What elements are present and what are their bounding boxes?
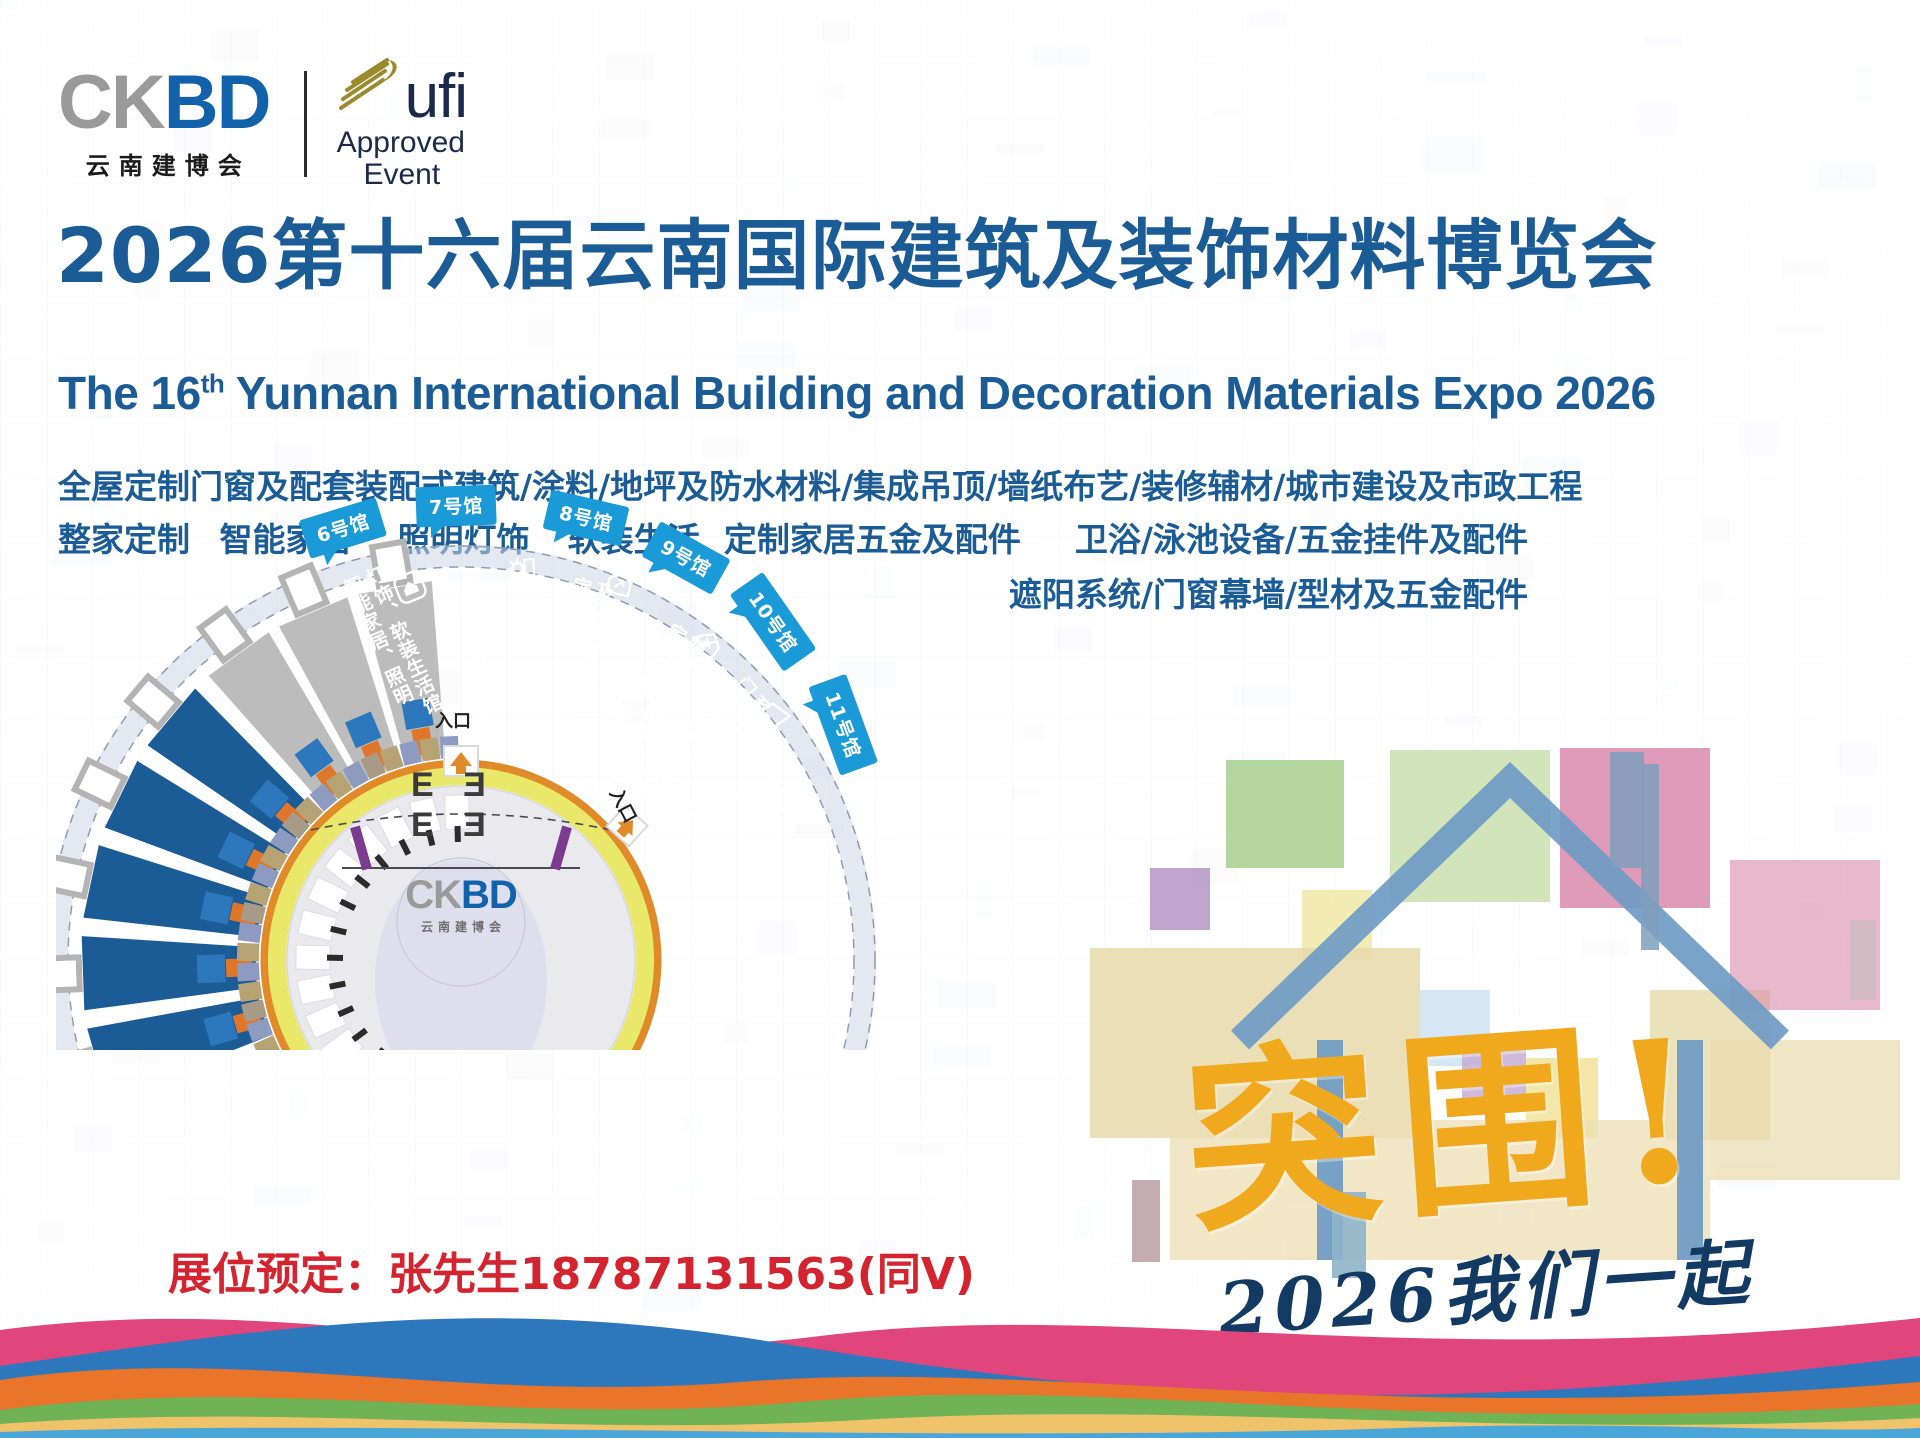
category-item: 遮阳系统/门窗幕墙/型材及五金配件	[1009, 578, 1528, 611]
title-chinese: 2026第十六届云南国际建筑及装饰材料博览会	[56, 218, 1536, 294]
floorplan-hall-facade	[56, 857, 91, 897]
ufi-approved-label: Approved	[337, 127, 467, 159]
title-english-ordinal: th	[201, 369, 225, 399]
category-row-1: 全屋定制 门窗及配套 装配式建筑/涂料/地坪及防水材料/集成吊顶/墙纸布艺/装修…	[58, 470, 1528, 503]
aisle-marker-top: Ε Ǝ	[411, 768, 496, 804]
ufi-top-row: ufi	[337, 58, 467, 125]
logo-divider	[304, 71, 307, 177]
ckbd-subtitle: 云南建博会	[77, 146, 251, 181]
category-item: 卫浴/泳池设备/五金挂件及配件	[1075, 523, 1528, 556]
floorplan-connector	[200, 891, 233, 924]
ufi-logo: ufi Approved Event	[337, 58, 467, 190]
ckbd-wordmark-gray: CK	[58, 60, 164, 145]
center-logo-wordmark: CKBD	[386, 875, 536, 915]
lighting-icon	[505, 553, 537, 590]
ckbd-logo: CKBD 云南建博会	[58, 67, 270, 180]
floorplan-service-block	[237, 943, 260, 962]
ufi-wordmark: ufi	[405, 69, 467, 125]
ufi-swoosh-icon	[337, 58, 409, 121]
ufi-event-label: Event	[337, 159, 467, 191]
floorplan-service-block	[237, 962, 260, 981]
title-english-rest: Yunnan International Building and Decora…	[224, 367, 1655, 419]
aisle-marker-bottom: Ε Ǝ	[411, 808, 496, 844]
category-item: 全屋定制	[58, 470, 190, 503]
floorplan-service-block	[238, 981, 262, 1002]
category-item: 装配式建筑/涂料/地坪及防水材料/集成吊顶/墙纸布艺/装修辅材/城市建设及市政工…	[355, 470, 1582, 503]
floorplan-hall-facade	[56, 957, 80, 990]
floorplan-service-block	[238, 922, 262, 943]
calligraphy-headline: 突围!	[1179, 1012, 1723, 1245]
center-logo-blue: BD	[461, 873, 517, 917]
poster-canvas: CKBD 云南建博会 ufi	[0, 0, 1920, 1438]
floorplan-connector	[197, 954, 226, 983]
entrance-label-main: 入口	[435, 707, 471, 733]
hall-tag-7[interactable]: 7号馆	[415, 485, 497, 528]
venue-floorplan: 6号馆 7号馆 8号馆 9号馆 10号馆 11号馆 灯饰、软装生活馆 智能家居、…	[56, 530, 926, 1050]
floorplan-center-logo: CKBD 云南建博会	[386, 875, 536, 935]
ckbd-wordmark: CKBD	[58, 67, 270, 139]
category-item: 门窗及配套	[190, 470, 355, 503]
floorplan-inner-booth	[296, 945, 330, 970]
title-english-prefix: The 16	[58, 367, 201, 419]
floorplan-service-block	[419, 737, 440, 761]
floorplan-inner-marker	[327, 955, 343, 961]
bottom-wave-decoration	[0, 1278, 1920, 1438]
center-logo-gray: CK	[405, 873, 461, 917]
center-logo-subtitle: 云南建博会	[386, 918, 536, 935]
ckbd-wordmark-blue: BD	[164, 60, 270, 145]
title-english: The 16th Yunnan International Building a…	[58, 370, 1538, 416]
header-logo-row: CKBD 云南建博会 ufi	[58, 58, 467, 190]
